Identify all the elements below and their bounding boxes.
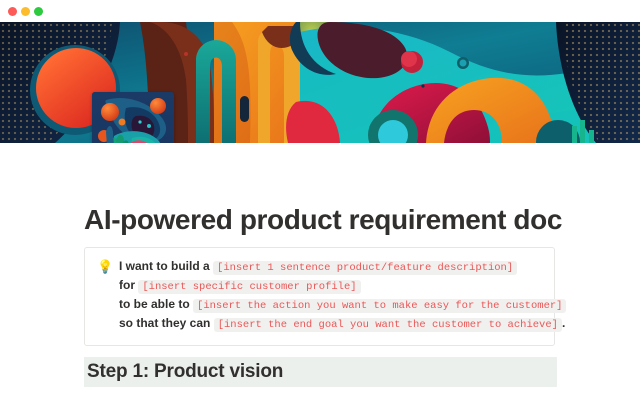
prompt-callout-text: I want to build a [insert 1 sentence pro… [119,258,566,334]
close-button[interactable] [8,7,17,16]
lightbulb-icon: 💡 [97,258,112,275]
prompt-label: for [119,278,135,292]
prompt-label: to be able to [119,297,190,311]
page-title[interactable]: AI-powered product requirement doc [84,204,562,236]
maximize-button[interactable] [34,7,43,16]
prompt-line-tail: . [562,316,565,330]
prompt-label: I want to build a [119,259,210,273]
document-body: AI-powered product requirement doc 💡 I w… [0,143,640,400]
prompt-placeholder[interactable]: [insert the action you want to make easy… [193,299,566,313]
prompt-line: so that they can [insert the end goal yo… [119,315,566,334]
prompt-callout[interactable]: 💡 I want to build a [insert 1 sentence p… [84,247,555,346]
prompt-line: to be able to [insert the action you wan… [119,296,566,315]
app-window: AI-powered product requirement doc 💡 I w… [0,0,640,400]
prompt-placeholder[interactable]: [insert 1 sentence product/feature descr… [213,261,517,275]
title-bar [0,0,640,22]
minimize-button[interactable] [21,7,30,16]
section-heading-step-1[interactable]: Step 1: Product vision [84,357,557,387]
prompt-label: so that they can [119,316,210,330]
prompt-line: I want to build a [insert 1 sentence pro… [119,258,566,277]
prompt-line: for [insert specific customer profile] [119,277,566,296]
prompt-placeholder[interactable]: [insert specific customer profile] [138,280,360,294]
prompt-placeholder[interactable]: [insert the end goal you want the custom… [214,318,562,332]
